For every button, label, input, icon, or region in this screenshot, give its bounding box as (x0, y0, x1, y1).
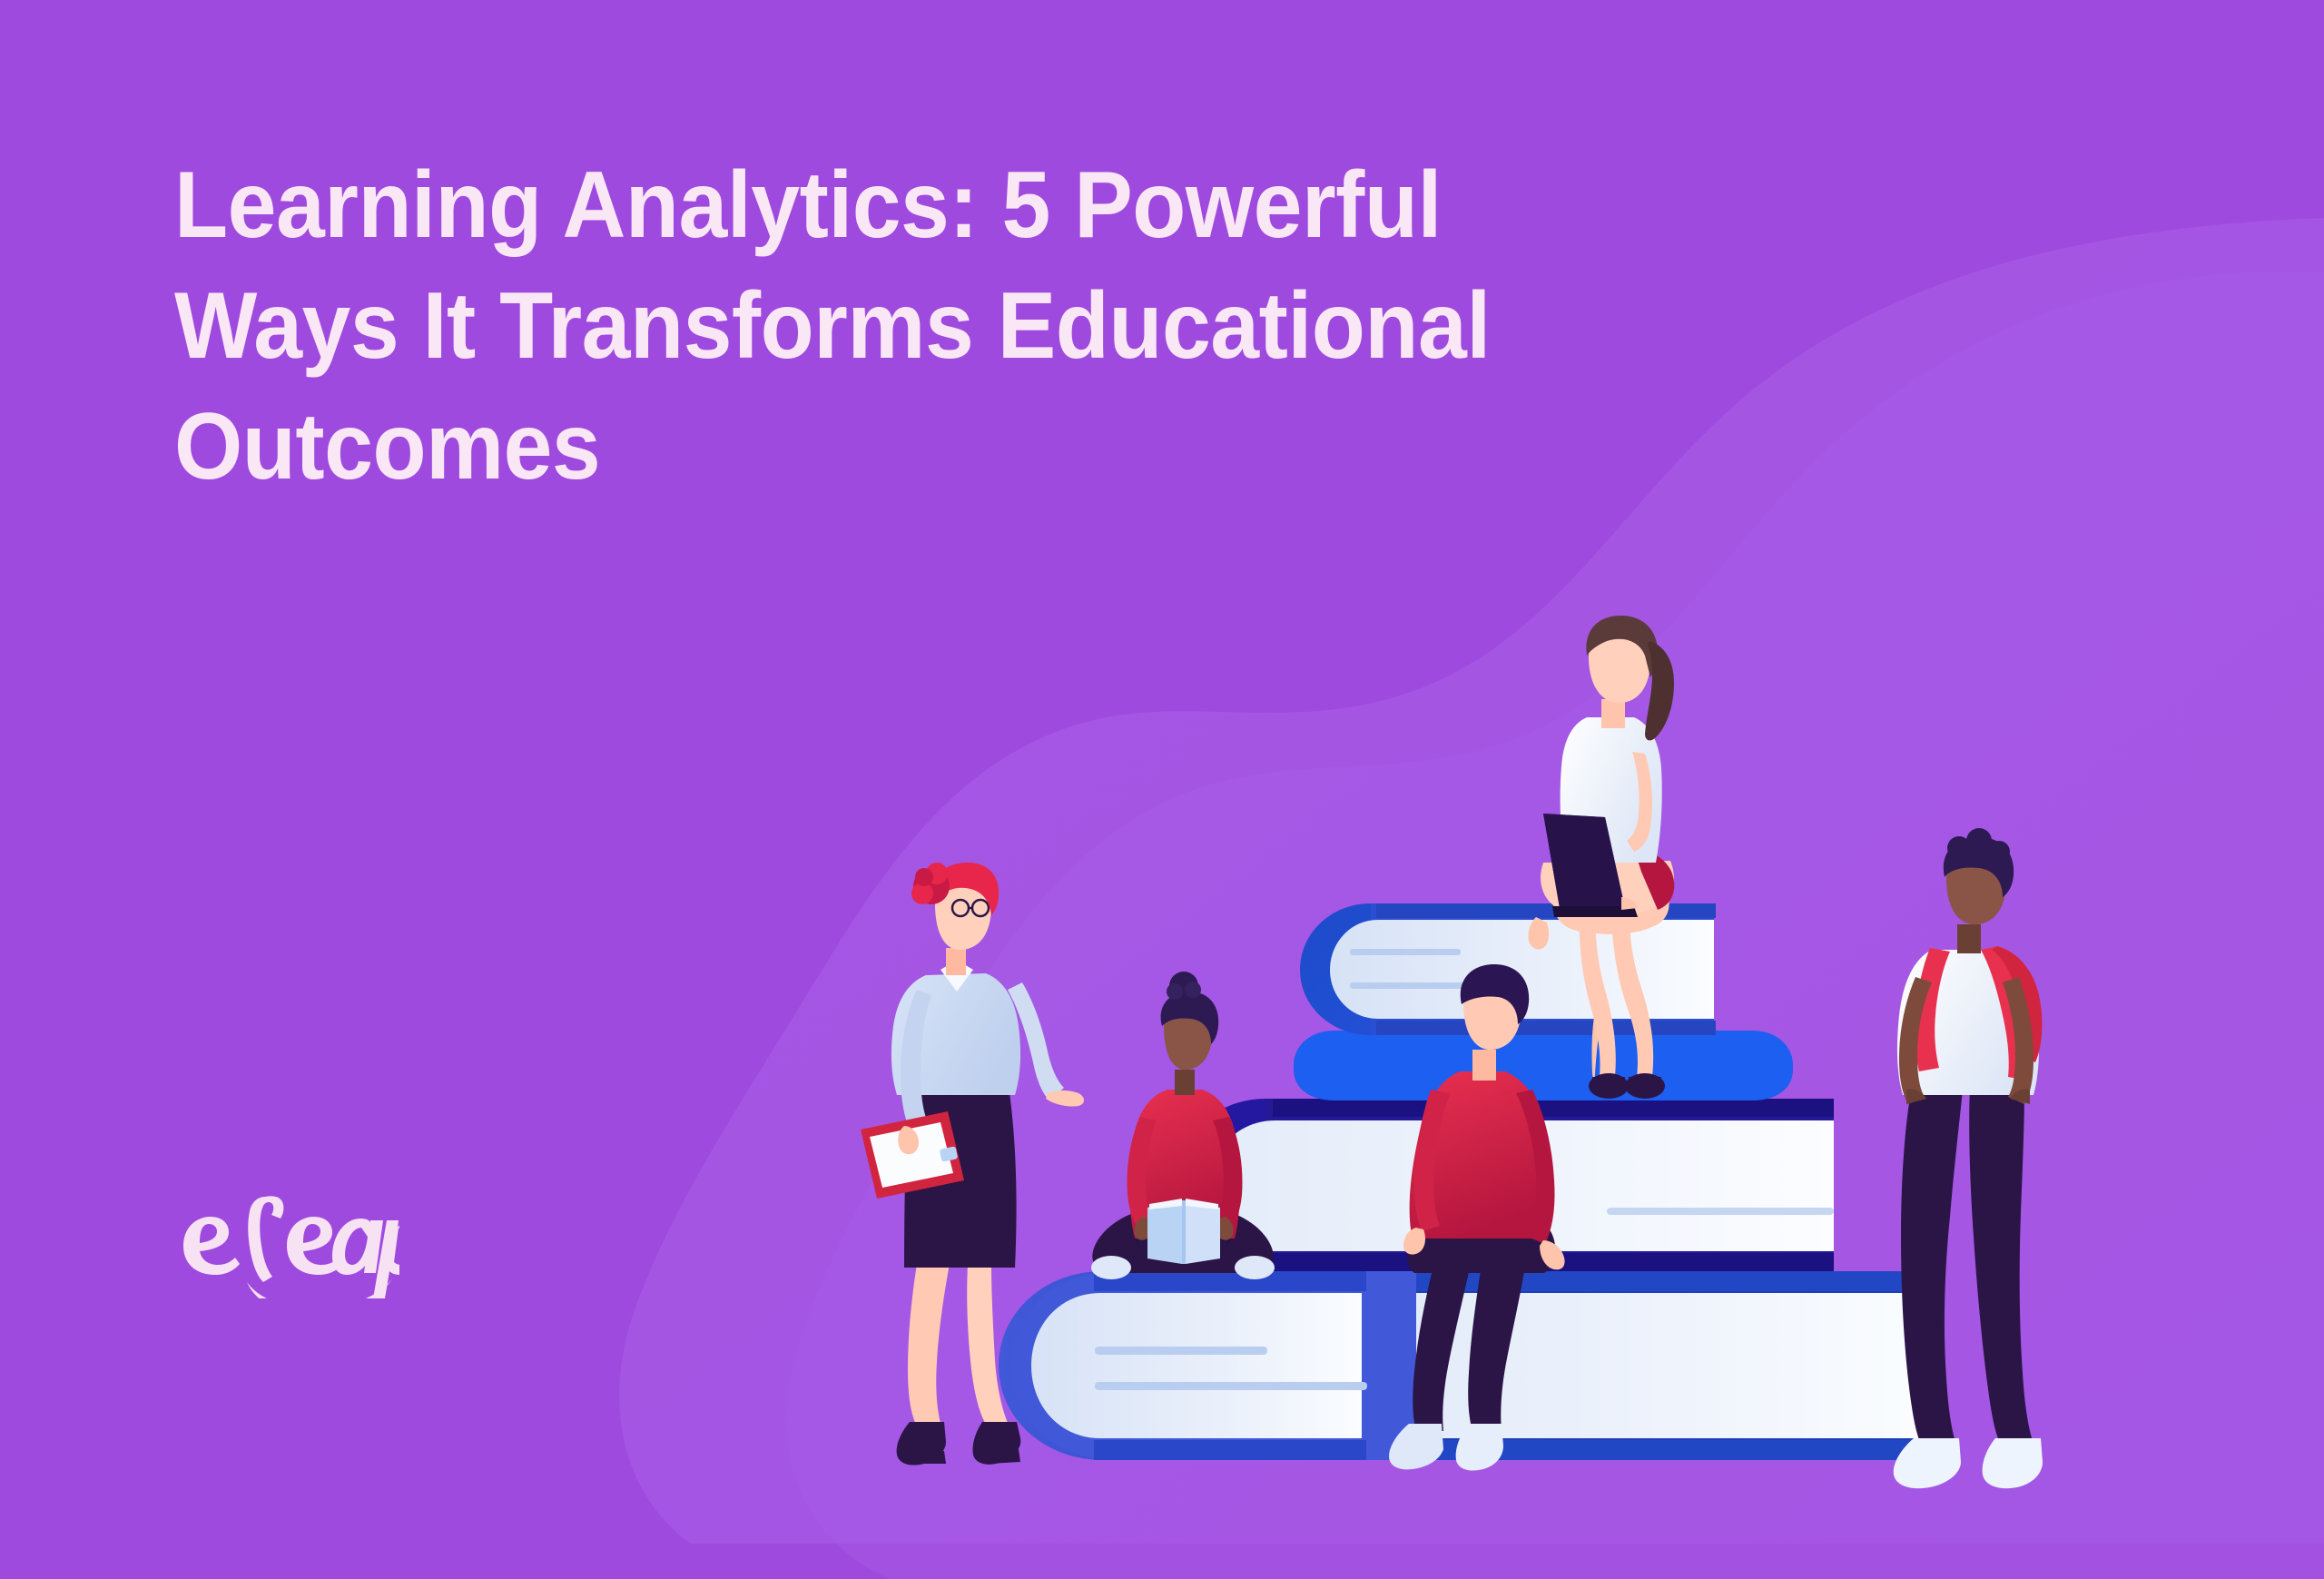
hero-banner: Learning Analytics: 5 Powerful Ways It T… (0, 0, 2324, 1579)
book-second (1294, 1031, 1793, 1100)
book-bottom-left (1010, 1271, 1416, 1460)
figure-standing-man-backpack (1894, 828, 2043, 1488)
students-book-stack-illustration (0, 0, 2324, 1579)
